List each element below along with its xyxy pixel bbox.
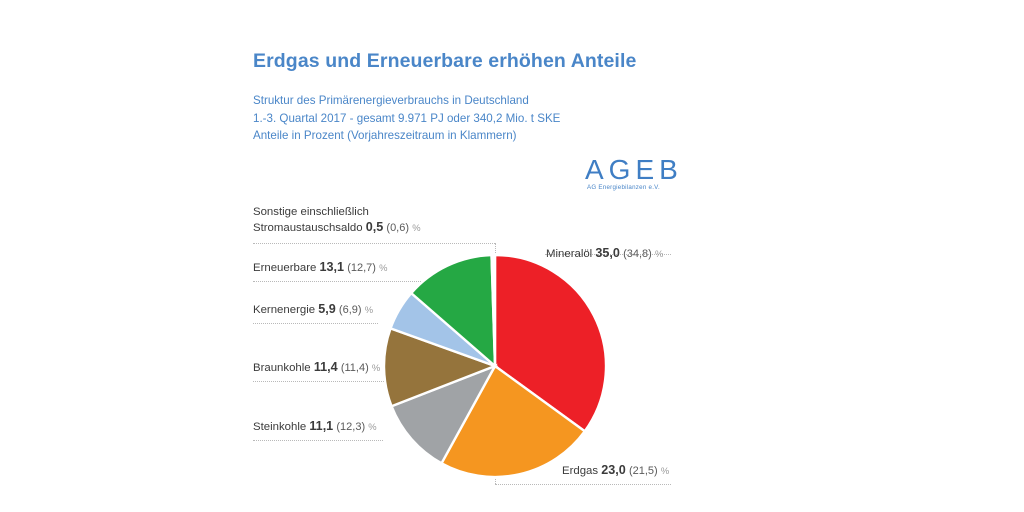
label-sonstige-name: Stromaustauschsaldo: [253, 222, 363, 234]
label-steinkohle: Steinkohle 11,1 (12,3) %: [253, 419, 377, 435]
label-mineraloel-name: Mineralöl: [546, 248, 592, 260]
label-kernenergie-value: 5,9: [318, 302, 336, 316]
label-erneuerbare-previous: (12,7): [347, 262, 376, 274]
label-mineraloel: Mineralöl 35,0 (34,8) %: [546, 246, 663, 262]
label-braunkohle-previous: (11,4): [341, 362, 369, 374]
label-mineraloel-previous: (34,8): [623, 248, 652, 260]
pie-slice-group: [384, 255, 606, 477]
pie-chart: [0, 0, 1024, 512]
label-erdgas-value: 23,0: [601, 463, 626, 477]
label-sonstige-value: 0,5: [366, 220, 384, 234]
label-mineraloel-value: 35,0: [595, 246, 620, 260]
label-erneuerbare-value: 13,1: [320, 260, 345, 274]
label-kernenergie: Kernenergie 5,9 (6,9) %: [253, 302, 373, 318]
label-kernenergie-name: Kernenergie: [253, 304, 315, 316]
label-sonstige: Sonstige einschließlich Stromaustauschsa…: [253, 205, 421, 236]
label-sonstige-unit: %: [412, 222, 420, 233]
label-erneuerbare: Erneuerbare 13,1 (12,7) %: [253, 260, 387, 276]
label-braunkohle: Braunkohle 11,4 (11,4) %: [253, 360, 380, 376]
label-braunkohle-value: 11,4: [314, 360, 338, 374]
label-erneuerbare-name: Erneuerbare: [253, 262, 316, 274]
label-steinkohle-value: 11,1: [309, 419, 333, 433]
label-kernenergie-previous: (6,9): [339, 304, 362, 316]
label-kernenergie-unit: %: [365, 304, 373, 315]
label-sonstige-line1: Sonstige einschließlich: [253, 205, 421, 220]
label-braunkohle-unit: %: [372, 362, 380, 373]
label-steinkohle-previous: (12,3): [336, 421, 365, 433]
label-erdgas: Erdgas 23,0 (21,5) %: [562, 463, 669, 479]
label-erdgas-unit: %: [661, 465, 669, 476]
label-steinkohle-unit: %: [368, 421, 376, 432]
label-erneuerbare-unit: %: [379, 262, 387, 273]
label-mineraloel-unit: %: [655, 248, 663, 259]
infographic-canvas: Erdgas und Erneuerbare erhöhen Anteile S…: [0, 0, 1024, 512]
label-steinkohle-name: Steinkohle: [253, 421, 306, 433]
label-erdgas-name: Erdgas: [562, 465, 598, 477]
label-braunkohle-name: Braunkohle: [253, 362, 311, 374]
label-sonstige-previous: (0,6): [386, 222, 409, 234]
label-erdgas-previous: (21,5): [629, 465, 658, 477]
